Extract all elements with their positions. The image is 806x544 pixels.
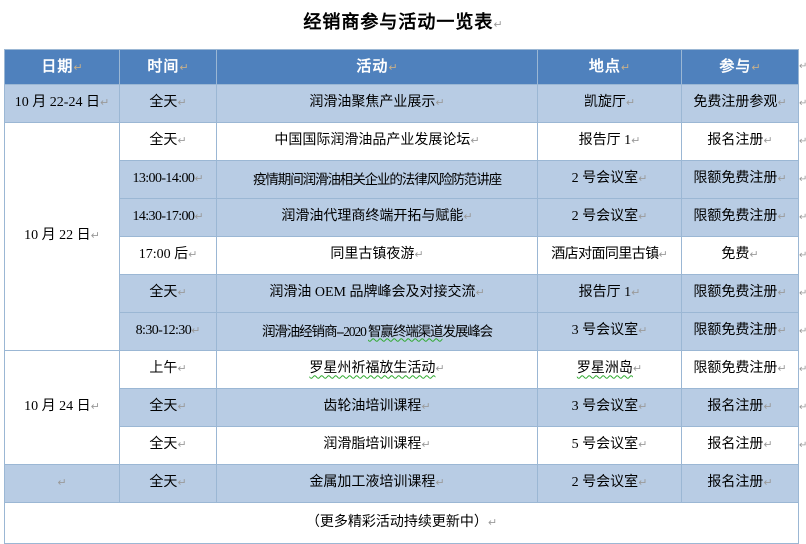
cell-activity-text: 润滑油 OEM 品牌峰会及对接交流: [269, 285, 475, 300]
cell-join: 报名注册↵: [682, 389, 799, 427]
cell-activity-text: 同里古镇夜游: [330, 247, 414, 262]
cell-join-text: 限额免费注册: [693, 209, 777, 224]
cell-time: 全天↵: [120, 389, 217, 427]
cell-activity: 润滑油经销商--2020 智赢终端渠道发展峰会: [217, 313, 538, 351]
cell-location: 2 号会议室↵: [538, 161, 682, 199]
cell-join: 限额免费注册↵: [682, 351, 799, 389]
column-header-join-label: 参与: [719, 58, 751, 75]
cell-time: 13:00-14:00↵: [120, 161, 217, 199]
paragraph-mark-icon: ↵: [763, 439, 772, 451]
paragraph-mark-icon: ↵: [194, 211, 203, 223]
paragraph-mark-icon: ↵: [194, 173, 203, 185]
paragraph-mark-icon: ↵: [799, 389, 806, 427]
table-row: 全天↵ 润滑油 OEM 品牌峰会及对接交流↵ 报告厅 1↵ 限额免费注册↵: [5, 275, 799, 313]
cell-location: 报告厅 1↵: [538, 123, 682, 161]
cell-activity: 同里古镇夜游↵: [217, 237, 538, 275]
cell-time-text: 全天: [149, 399, 177, 414]
paragraph-mark-icon: ↵: [179, 62, 188, 74]
column-header-location-label: 地点: [589, 58, 621, 75]
paragraph-mark-icon: ↵: [631, 287, 640, 299]
cell-location: 酒店对面同里古镇↵: [538, 237, 682, 275]
cell-time: 17:00 后↵: [120, 237, 217, 275]
paragraph-mark-icon: ↵: [777, 287, 786, 299]
cell-location: 报告厅 1↵: [538, 275, 682, 313]
paragraph-mark-icon: ↵: [435, 477, 444, 489]
paragraph-mark-icon: ↵: [749, 249, 758, 261]
paragraph-mark-icon: ↵: [470, 135, 479, 147]
cell-activity-text: 齿轮油培训课程: [323, 399, 421, 414]
cell-location-text: 2 号会议室: [572, 209, 639, 224]
cell-time: 全天↵: [120, 85, 217, 123]
paragraph-mark-icon: ↵: [177, 401, 186, 413]
cell-activity-text: 中国国际润滑油品产业发展论坛: [274, 133, 470, 148]
cell-join: 免费注册参观↵: [682, 85, 799, 123]
cell-date-merged-oct22: 10 月 22 日↵: [5, 123, 120, 351]
table-body: 10 月 22-24 日↵ 全天↵ 润滑油聚焦产业展示↵ 凯旋厅↵ 免费注册参观…: [5, 85, 799, 544]
cell-join: 限额免费注册↵: [682, 275, 799, 313]
paragraph-mark-icon: ↵: [91, 230, 100, 242]
cell-time: 全天↵: [120, 465, 217, 503]
cell-activity-text: 疫情期间润滑油相关企业的法律风险防范讲座: [253, 172, 501, 187]
column-header-location: 地点↵: [538, 50, 682, 85]
cell-time-text: 8:30-12:30: [136, 323, 191, 338]
table-row: 13:00-14:00↵ 疫情期间润滑油相关企业的法律风险防范讲座 2 号会议室…: [5, 161, 799, 199]
paragraph-mark-icon: ↵: [626, 97, 635, 109]
cell-time-text: 全天: [149, 133, 177, 148]
cell-location-text: 2 号会议室: [572, 475, 639, 490]
paragraph-mark-icon: ↵: [799, 85, 806, 123]
paragraph-mark-icon: ↵: [421, 439, 430, 451]
cell-time: 全天↵: [120, 123, 217, 161]
cell-time: 全天↵: [120, 427, 217, 465]
cell-location-text: 3 号会议室: [572, 323, 639, 338]
cell-footer-note: （更多精彩活动持续更新中）↵: [5, 503, 799, 544]
cell-activity-text-flagged: 智赢终端渠道: [368, 324, 442, 339]
cell-time-text: 全天: [149, 475, 177, 490]
paragraph-mark-icon: ↵: [73, 62, 82, 74]
paragraph-mark-icon: ↵: [177, 439, 186, 451]
cell-location-text: 2 号会议室: [572, 171, 639, 186]
column-header-activity-label: 活动: [356, 58, 388, 75]
schedule-table: 日期↵ 时间↵ 活动↵ 地点↵ 参与↵ 10 月 22-24 日↵ 全天↵ 润滑…: [4, 49, 799, 544]
cell-join: 报名注册↵: [682, 465, 799, 503]
cell-join: 限额免费注册↵: [682, 313, 799, 351]
table-row: 8:30-12:30↵ 润滑油经销商--2020 智赢终端渠道发展峰会 3 号会…: [5, 313, 799, 351]
paragraph-mark-icon: ↵: [638, 477, 647, 489]
cell-time-text: 全天: [149, 95, 177, 110]
paragraph-mark-icon: ↵: [493, 19, 502, 31]
paragraph-mark-icon: ↵: [751, 62, 760, 74]
column-header-join: 参与↵: [682, 50, 799, 85]
cell-location-text: 报告厅 1: [579, 133, 632, 148]
cell-time: 全天↵: [120, 275, 217, 313]
cell-location: 凯旋厅↵: [538, 85, 682, 123]
table-row: 14:30-17:00↵ 润滑油代理商终端开拓与赋能↵ 2 号会议室↵ 限额免费…: [5, 199, 799, 237]
cell-activity: 润滑油聚焦产业展示↵: [217, 85, 538, 123]
outer-paragraph-marks: ↵ ↵ ↵ ↵ ↵ ↵ ↵ ↵ ↵ ↵ ↵: [799, 49, 806, 465]
paragraph-mark-icon: ↵: [475, 287, 484, 299]
paragraph-mark-icon: ↵: [638, 401, 647, 413]
paragraph-mark-icon: ↵: [638, 325, 647, 337]
paragraph-mark-icon: ↵: [177, 477, 186, 489]
cell-join-text: 报名注册: [707, 437, 763, 452]
column-header-activity: 活动↵: [217, 50, 538, 85]
cell-time-text: 17:00 后: [139, 247, 188, 262]
cell-time: 14:30-17:00↵: [120, 199, 217, 237]
cell-activity: 润滑脂培训课程↵: [217, 427, 538, 465]
cell-location: 3 号会议室↵: [538, 313, 682, 351]
cell-time: 上午↵: [120, 351, 217, 389]
table-row: 全天↵ 齿轮油培训课程↵ 3 号会议室↵ 报名注册↵: [5, 389, 799, 427]
cell-location-text: 3 号会议室: [572, 399, 639, 414]
cell-join-text: 限额免费注册: [693, 323, 777, 338]
paragraph-mark-icon: ↵: [621, 62, 630, 74]
cell-join: 报名注册↵: [682, 123, 799, 161]
paragraph-mark-icon: ↵: [631, 135, 640, 147]
cell-activity-text: 润滑油代理商终端开拓与赋能: [281, 209, 463, 224]
paragraph-mark-icon: ↵: [177, 287, 186, 299]
cell-time-text: 全天: [149, 285, 177, 300]
paragraph-mark-icon: ↵: [799, 313, 806, 351]
paragraph-mark-icon: ↵: [435, 363, 444, 375]
paragraph-mark-icon: ↵: [763, 477, 772, 489]
paragraph-mark-icon: ↵: [777, 325, 786, 337]
paragraph-mark-icon: ↵: [777, 173, 786, 185]
paragraph-mark-icon: ↵: [177, 97, 186, 109]
paragraph-mark-icon: ↵: [799, 427, 806, 465]
paragraph-mark-icon: ↵: [763, 401, 772, 413]
cell-date: 10 月 22-24 日↵: [5, 85, 120, 123]
cell-join: 限额免费注册↵: [682, 161, 799, 199]
cell-footer-text: （更多精彩活动持续更新中）: [306, 515, 488, 530]
cell-time-text: 上午: [149, 361, 177, 376]
cell-activity-text: 润滑脂培训课程: [323, 437, 421, 452]
paragraph-mark-icon: ↵: [799, 275, 806, 313]
paragraph-mark-icon: ↵: [763, 135, 772, 147]
cell-activity-text-tail: 发展峰会: [442, 324, 492, 339]
paragraph-mark-icon: ↵: [421, 401, 430, 413]
paragraph-mark-icon: ↵: [177, 363, 186, 375]
cell-activity: 疫情期间润滑油相关企业的法律风险防范讲座: [217, 161, 538, 199]
cell-location-text: 酒店对面同里古镇: [551, 247, 658, 262]
header-row: 日期↵ 时间↵ 活动↵ 地点↵ 参与↵: [5, 50, 799, 85]
cell-location: 3 号会议室↵: [538, 389, 682, 427]
paragraph-mark-icon: ↵: [435, 97, 444, 109]
cell-activity: 润滑油代理商终端开拓与赋能↵: [217, 199, 538, 237]
paragraph-mark-icon: ↵: [638, 439, 647, 451]
paragraph-mark-icon: ↵: [191, 325, 200, 337]
cell-activity-text: 罗星州祈福放生活动: [309, 361, 435, 376]
cell-location: 罗星洲岛↵: [538, 351, 682, 389]
paragraph-mark-icon: ↵: [638, 173, 647, 185]
paragraph-mark-icon: ↵: [777, 97, 786, 109]
cell-date-empty: ↵: [5, 465, 120, 503]
cell-date-merged-oct24: 10 月 24 日↵: [5, 351, 120, 465]
cell-activity-text: 润滑油聚焦产业展示: [309, 95, 435, 110]
column-header-date-label: 日期: [41, 58, 73, 75]
paragraph-mark-icon: ↵: [188, 249, 197, 261]
cell-join-text: 报名注册: [707, 475, 763, 490]
paragraph-mark-icon: ↵: [57, 477, 66, 489]
paragraph-mark-icon: ↵: [100, 97, 109, 109]
cell-join-text: 限额免费注册: [693, 361, 777, 376]
cell-location-text: 凯旋厅: [584, 95, 626, 110]
cell-activity-text-plain: 润滑油经销商--2020: [262, 324, 368, 339]
cell-join-text: 免费注册参观: [693, 95, 777, 110]
paragraph-mark-icon: ↵: [91, 401, 100, 413]
cell-date-text: 10 月 22-24 日: [15, 95, 100, 110]
table-row: 10 月 22 日↵ 全天↵ 中国国际润滑油品产业发展论坛↵ 报告厅 1↵ 报名…: [5, 123, 799, 161]
cell-activity: 中国国际润滑油品产业发展论坛↵: [217, 123, 538, 161]
paragraph-mark-icon: ↵: [777, 211, 786, 223]
column-header-date: 日期↵: [5, 50, 120, 85]
cell-time-text: 全天: [149, 437, 177, 452]
paragraph-mark-icon: ↵: [799, 123, 806, 161]
paragraph-mark-icon: ↵: [799, 49, 806, 85]
cell-activity-text: 金属加工液培训课程: [309, 475, 435, 490]
table-row: ↵ 全天↵ 金属加工液培训课程↵ 2 号会议室↵ 报名注册↵: [5, 465, 799, 503]
cell-location-text: 5 号会议室: [572, 437, 639, 452]
paragraph-mark-icon: ↵: [658, 249, 667, 261]
page-title: 经销商参与活动一览表↵: [0, 0, 806, 31]
table-footer-row: （更多精彩活动持续更新中）↵: [5, 503, 799, 544]
table-row: 全天↵ 润滑脂培训课程↵ 5 号会议室↵ 报名注册↵: [5, 427, 799, 465]
cell-activity: 齿轮油培训课程↵: [217, 389, 538, 427]
table-header: 日期↵ 时间↵ 活动↵ 地点↵ 参与↵: [5, 50, 799, 85]
paragraph-mark-icon: ↵: [177, 135, 186, 147]
cell-location: 2 号会议室↵: [538, 465, 682, 503]
paragraph-mark-icon: ↵: [799, 351, 806, 389]
paragraph-mark-icon: ↵: [633, 363, 642, 375]
cell-activity: 润滑油 OEM 品牌峰会及对接交流↵: [217, 275, 538, 313]
paragraph-mark-icon: ↵: [488, 517, 497, 529]
paragraph-mark-icon: ↵: [799, 161, 806, 199]
page-title-text: 经销商参与活动一览表: [303, 12, 493, 32]
cell-activity: 罗星州祈福放生活动↵: [217, 351, 538, 389]
cell-location-text: 罗星洲岛: [577, 361, 633, 376]
cell-date-text: 10 月 24 日: [24, 399, 91, 414]
cell-join-text: 限额免费注册: [693, 171, 777, 186]
cell-time-text: 14:30-17:00: [132, 209, 194, 224]
schedule-table-container: 日期↵ 时间↵ 活动↵ 地点↵ 参与↵ 10 月 22-24 日↵ 全天↵ 润滑…: [4, 49, 798, 544]
cell-join-text: 报名注册: [707, 133, 763, 148]
paragraph-mark-icon: ↵: [388, 62, 397, 74]
table-row: 10 月 22-24 日↵ 全天↵ 润滑油聚焦产业展示↵ 凯旋厅↵ 免费注册参观…: [5, 85, 799, 123]
table-row: 17:00 后↵ 同里古镇夜游↵ 酒店对面同里古镇↵ 免费↵: [5, 237, 799, 275]
paragraph-mark-icon: ↵: [799, 199, 806, 237]
cell-location: 5 号会议室↵: [538, 427, 682, 465]
cell-join-text: 免费: [721, 247, 749, 262]
paragraph-mark-icon: ↵: [799, 237, 806, 275]
cell-location: 2 号会议室↵: [538, 199, 682, 237]
paragraph-mark-icon: ↵: [638, 211, 647, 223]
paragraph-mark-icon: ↵: [777, 363, 786, 375]
paragraph-mark-icon: ↵: [414, 249, 423, 261]
paragraph-mark-icon: ↵: [463, 211, 472, 223]
cell-date-text: 10 月 22 日: [24, 228, 91, 243]
cell-join-text: 限额免费注册: [693, 285, 777, 300]
cell-join: 限额免费注册↵: [682, 199, 799, 237]
cell-join-text: 报名注册: [707, 399, 763, 414]
column-header-time: 时间↵: [120, 50, 217, 85]
cell-time-text: 13:00-14:00: [132, 171, 194, 186]
cell-time: 8:30-12:30↵: [120, 313, 217, 351]
cell-location-text: 报告厅 1: [579, 285, 632, 300]
cell-activity: 金属加工液培训课程↵: [217, 465, 538, 503]
table-row: 10 月 24 日↵ 上午↵ 罗星州祈福放生活动↵ 罗星洲岛↵ 限额免费注册↵: [5, 351, 799, 389]
column-header-time-label: 时间: [147, 58, 179, 75]
cell-join: 免费↵: [682, 237, 799, 275]
cell-join: 报名注册↵: [682, 427, 799, 465]
